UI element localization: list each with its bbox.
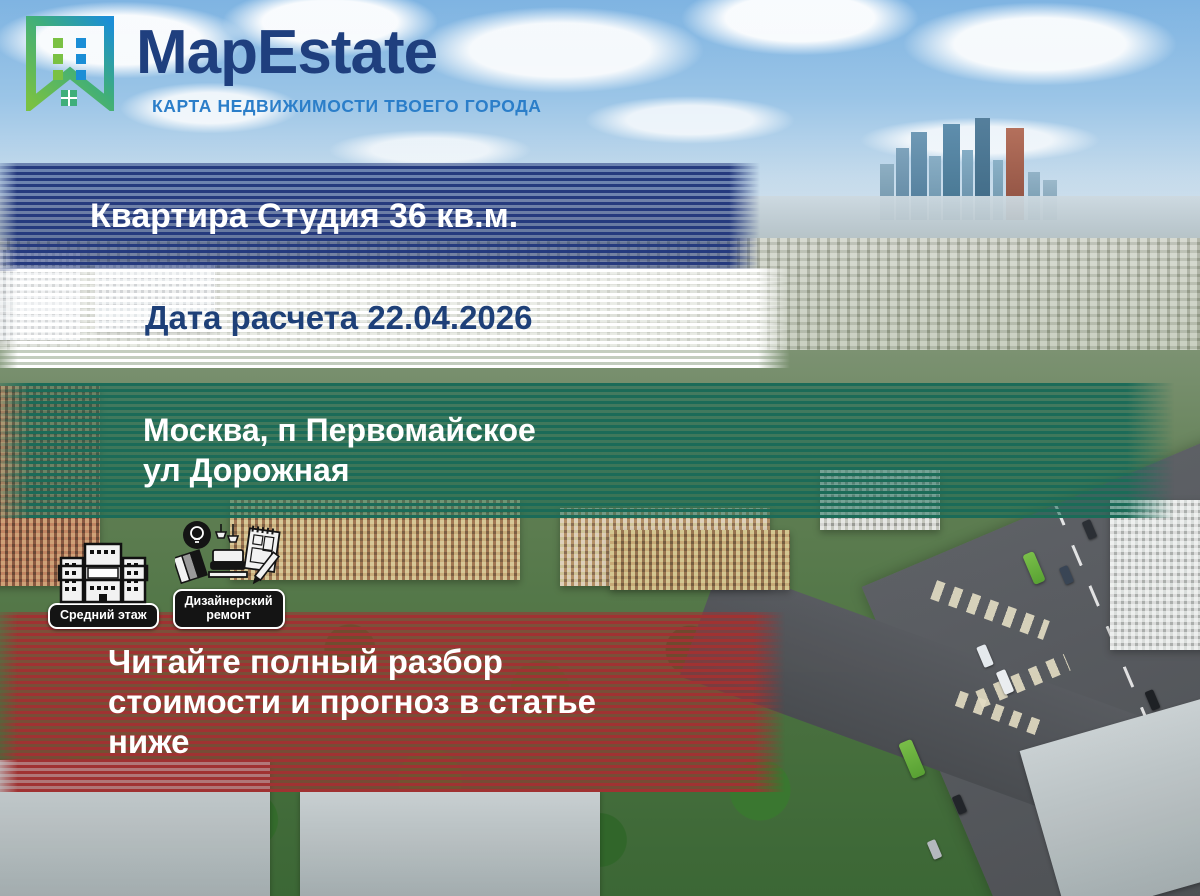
cta-line-2: стоимости и прогноз в статье bbox=[108, 682, 785, 722]
badge-middle-floor[interactable]: Средний этаж bbox=[48, 542, 159, 629]
brand-logo[interactable]: MapEstate КАРТА НЕДВИЖИМОСТИ ТВОЕГО ГОРО… bbox=[26, 16, 546, 116]
property-title-banner: Квартира Студия 36 кв.м. bbox=[0, 163, 760, 271]
calculation-date-banner: Дата расчета 22.04.2026 bbox=[0, 268, 790, 368]
feature-badges: Средний этаж bbox=[48, 520, 285, 629]
address-text: Москва, п Первомайское ул Дорожная bbox=[0, 383, 1174, 518]
brand-name-part2: Estate bbox=[257, 18, 437, 87]
brand-name-part1: Map bbox=[136, 18, 257, 87]
bookmark-building-icon bbox=[26, 16, 114, 111]
brand-name: MapEstate bbox=[136, 22, 437, 84]
cta-line-3: ниже bbox=[108, 722, 785, 762]
address-line-1: Москва, п Первомайское bbox=[143, 411, 1174, 450]
property-title-text: Квартира Студия 36 кв.м. bbox=[0, 163, 760, 271]
brand-tagline: КАРТА НЕДВИЖИМОСТИ ТВОЕГО ГОРОДА bbox=[152, 96, 542, 117]
calculation-date-text: Дата расчета 22.04.2026 bbox=[0, 268, 790, 368]
cta-text: Читайте полный разбор стоимости и прогно… bbox=[0, 612, 785, 792]
property-promo-poster: MapEstate КАРТА НЕДВИЖИМОСТИ ТВОЕГО ГОРО… bbox=[0, 0, 1200, 896]
interior-design-icon bbox=[175, 520, 283, 595]
cta-line-1: Читайте полный разбор bbox=[108, 642, 785, 682]
cta-banner[interactable]: Читайте полный разбор стоимости и прогно… bbox=[0, 612, 785, 792]
address-line-2: ул Дорожная bbox=[143, 451, 1174, 490]
address-banner: Москва, п Первомайское ул Дорожная bbox=[0, 383, 1174, 518]
apartment-building-icon bbox=[57, 542, 149, 609]
badge-designer-renovation[interactable]: Дизайнерский ремонт bbox=[173, 520, 285, 629]
